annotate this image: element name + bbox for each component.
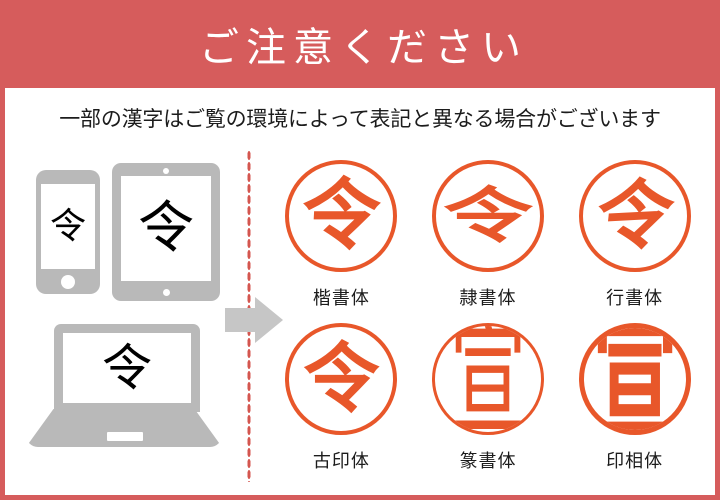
laptop-icon: 令 <box>26 324 222 472</box>
tablet-icon: 令 <box>112 163 220 301</box>
seal-label: 古印体 <box>313 447 370 473</box>
notice-banner: ご注意ください 一部の漢字はご覧の環境によって表記と異なる場合がございます 令 … <box>0 0 720 500</box>
seal-style-grid: 令 楷書体 令 隷書体 令 行書体 令 古印体 宣 篆書体 <box>268 160 708 485</box>
seal-glyph: 宣 <box>450 323 527 435</box>
arrow-shaft <box>225 308 259 332</box>
seal-glyph: 宣 <box>592 323 677 435</box>
tablet-home-button <box>163 289 170 296</box>
seal-circle: 令 <box>285 323 397 435</box>
seal-label: 楷書体 <box>313 284 370 310</box>
laptop-glyph: 令 <box>63 333 191 403</box>
laptop-base <box>26 409 222 447</box>
seal-circle: 令 <box>285 160 397 272</box>
seal-glyph: 令 <box>300 177 382 255</box>
seal-style-inso: 宣 印相体 <box>561 323 708 486</box>
seal-circle: 令 <box>432 160 544 272</box>
page-title: ご注意ください <box>0 0 720 88</box>
seal-glyph: 令 <box>443 186 533 246</box>
seal-label: 隷書体 <box>459 284 516 310</box>
tablet-screen: 令 <box>121 176 211 281</box>
smartphone-home-button <box>61 275 75 289</box>
smartphone-screen: 令 <box>41 184 95 269</box>
laptop-lid: 令 <box>54 324 200 412</box>
seal-style-reisho: 令 隷書体 <box>415 160 562 323</box>
smartphone-glyph: 令 <box>41 184 95 269</box>
seal-label: 篆書体 <box>459 447 516 473</box>
seal-style-gyosho: 令 行書体 <box>561 160 708 323</box>
seal-circle: 令 <box>579 160 691 272</box>
seal-circle: 宣 <box>432 323 544 435</box>
seal-label: 印相体 <box>606 447 663 473</box>
tablet-camera <box>163 168 169 174</box>
seal-glyph: 令 <box>303 341 379 417</box>
seal-label: 行書体 <box>606 284 663 310</box>
seal-glyph: 令 <box>592 176 677 256</box>
device-illustrations: 令 令 令 <box>0 88 248 500</box>
laptop-screen: 令 <box>63 333 191 403</box>
laptop-trackpad <box>107 432 143 441</box>
smartphone-icon: 令 <box>36 170 100 294</box>
seal-style-koin: 令 古印体 <box>268 323 415 486</box>
seal-style-kaisho: 令 楷書体 <box>268 160 415 323</box>
seal-style-tensho: 宣 篆書体 <box>415 323 562 486</box>
seal-circle: 宣 <box>579 323 691 435</box>
tablet-glyph: 令 <box>121 176 211 281</box>
